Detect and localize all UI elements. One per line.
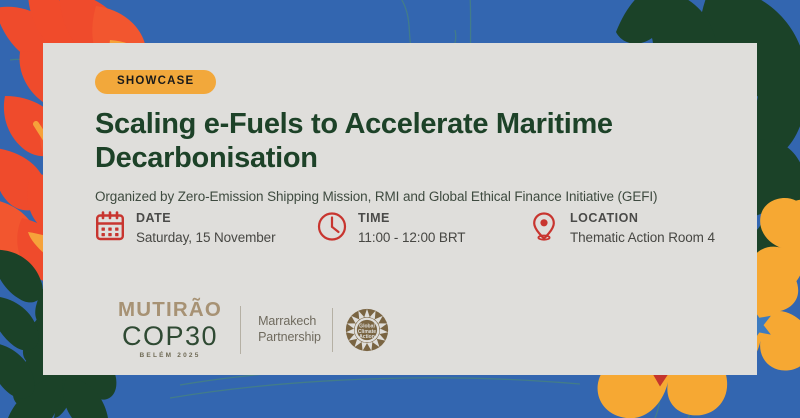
page-title: Scaling e-Fuels to Accelerate Maritime D… [95,107,695,175]
logo-row: MUTIRÃO COP30 BELÉM 2025 Marrakech Partn… [118,300,390,359]
belem-text: BELÉM 2025 [118,353,222,360]
meta-value-time: 11:00 - 12:00 BRT [358,230,465,246]
marrakech-partnership-logo: Marrakech Partnership [240,306,390,354]
meta-text-date: DATE Saturday, 15 November [136,211,275,246]
meta-text-location: LOCATION Thematic Action Room 4 [570,211,715,246]
marrakech-partnership-text: Marrakech Partnership [258,314,321,345]
meta-value-location: Thematic Action Room 4 [570,230,715,246]
meta-value-date: Saturday, 15 November [136,230,275,246]
meta-label-time: TIME [358,212,465,226]
meta-item-time: TIME 11:00 - 12:00 BRT [317,211,529,246]
location-pin-icon [529,211,559,242]
event-meta-row: DATE Saturday, 15 November TIME 11:00 - … [95,211,755,246]
meta-label-location: LOCATION [570,212,715,226]
cop30-logo: MUTIRÃO COP30 BELÉM 2025 [118,300,222,359]
marrakech-line-2: Partnership [258,330,321,346]
gca-line-3: Action [359,333,375,339]
mutirao-text: MUTIRÃO [118,300,222,321]
logo-divider [332,308,333,352]
organizer-text: Organized by Zero-Emission Shipping Miss… [95,188,733,206]
showcase-badge: SHOWCASE [95,70,216,94]
card-content: SHOWCASE Scaling e-Fuels to Accelerate M… [95,70,733,205]
global-climate-action-icon: Global Climate Action [344,307,390,353]
meta-item-location: LOCATION Thematic Action Room 4 [529,211,749,246]
marrakech-line-1: Marrakech [258,314,321,330]
clock-icon [317,211,347,242]
meta-text-time: TIME 11:00 - 12:00 BRT [358,211,465,246]
event-poster: SHOWCASE Scaling e-Fuels to Accelerate M… [0,0,800,418]
cop30-text: COP30 [118,323,222,350]
calendar-icon [95,211,125,242]
meta-item-date: DATE Saturday, 15 November [95,211,317,246]
meta-label-date: DATE [136,212,275,226]
